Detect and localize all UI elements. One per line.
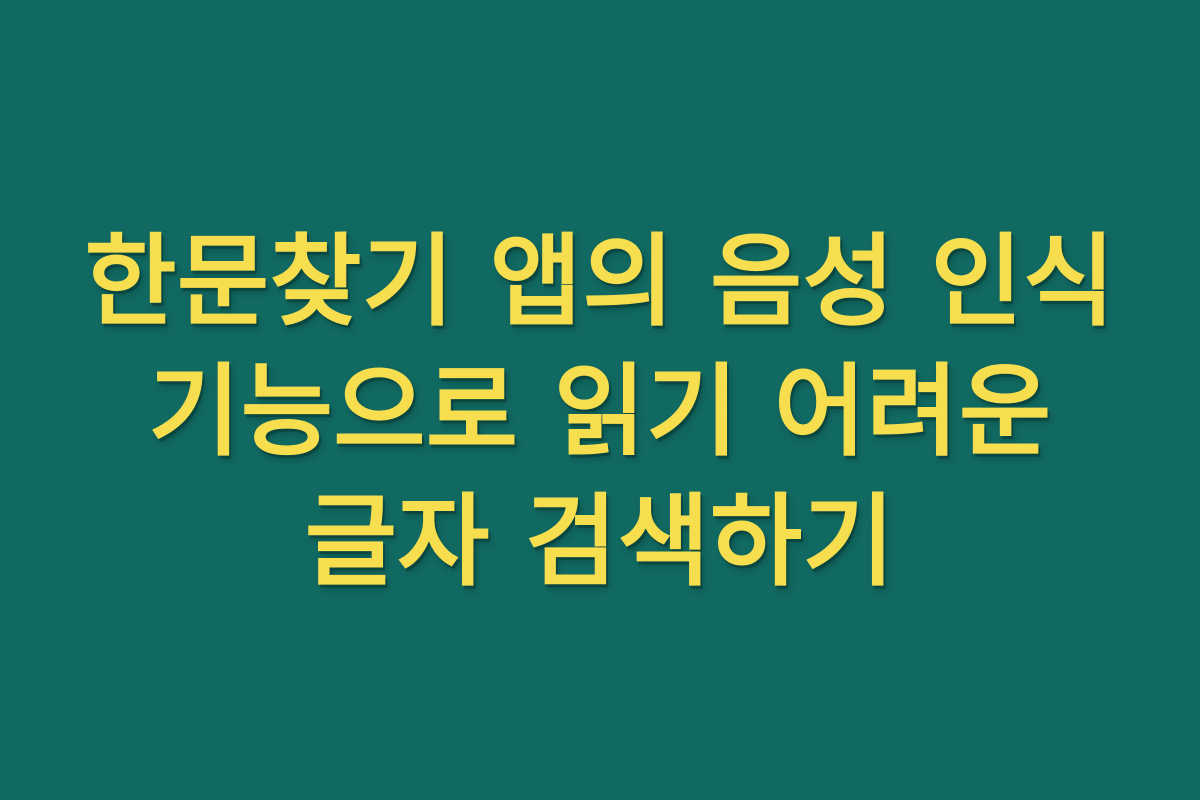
title-banner: 한문찾기 앱의 음성 인식 기능으로 읽기 어려운 글자 검색하기 <box>0 0 1200 800</box>
title-line-1: 한문찾기 앱의 음성 인식 <box>85 217 1116 347</box>
title-line-2: 기능으로 읽기 어려운 <box>148 347 1051 477</box>
page-title: 한문찾기 앱의 음성 인식 기능으로 읽기 어려운 글자 검색하기 <box>40 217 1160 607</box>
title-line-3: 글자 검색하기 <box>305 477 895 607</box>
